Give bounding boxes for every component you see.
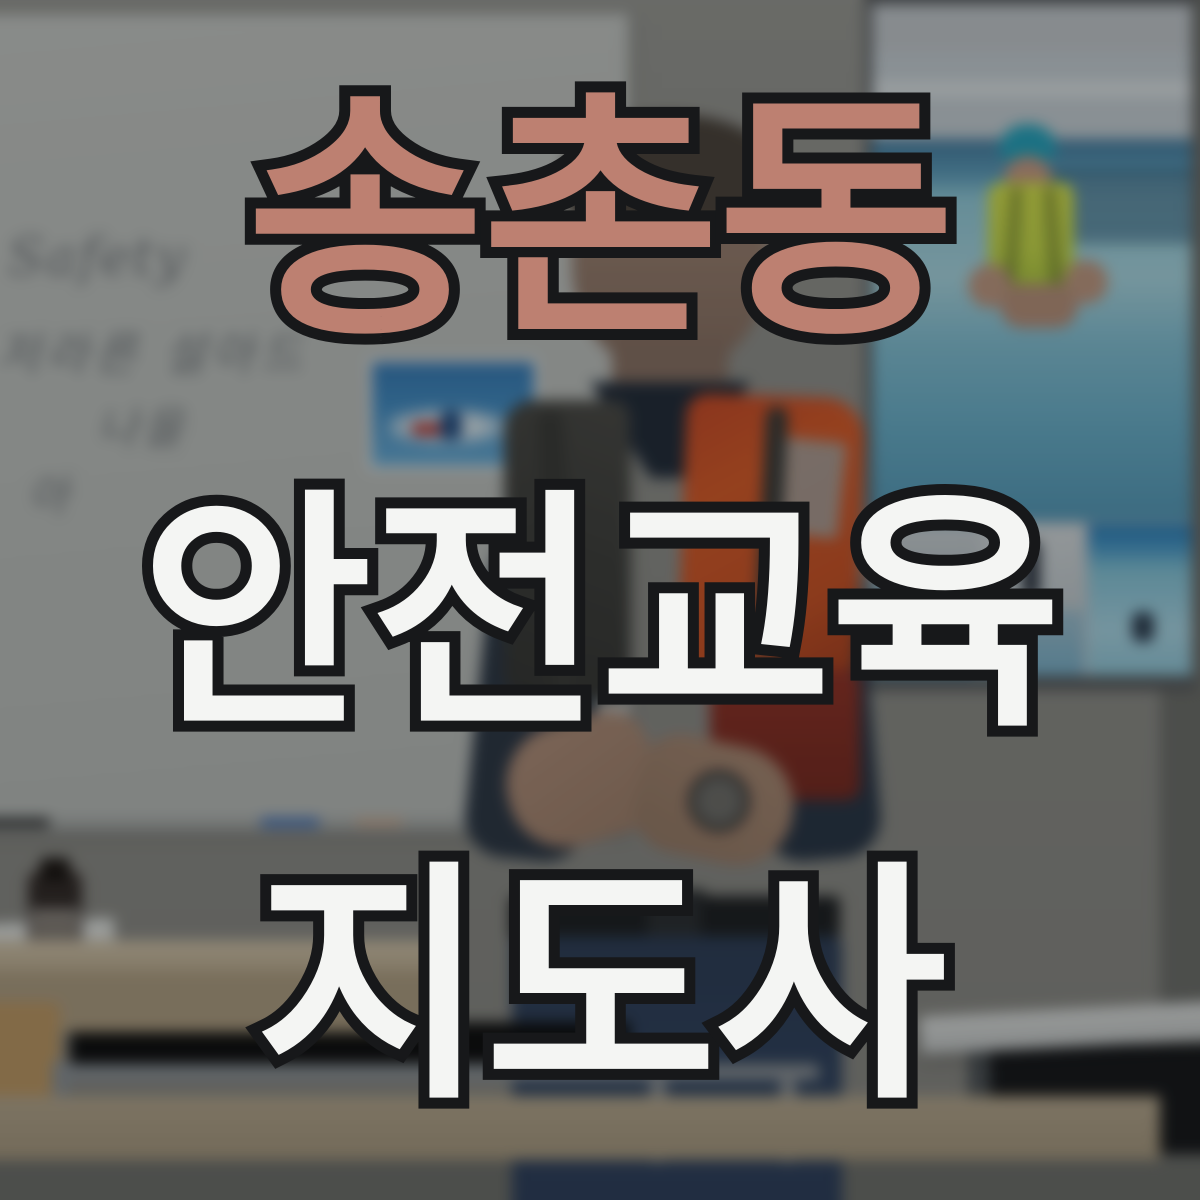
title-line-1: 송촌동	[0, 92, 1200, 350]
thumbnail-card: Safety 저라른 설아드 나을 아	[0, 0, 1200, 1200]
title-line-3: 지도사	[0, 862, 1200, 1114]
title-line-2: 안전교육	[0, 490, 1200, 742]
title-text-overlay: 송촌동 안전교육 지도사	[0, 0, 1200, 1200]
